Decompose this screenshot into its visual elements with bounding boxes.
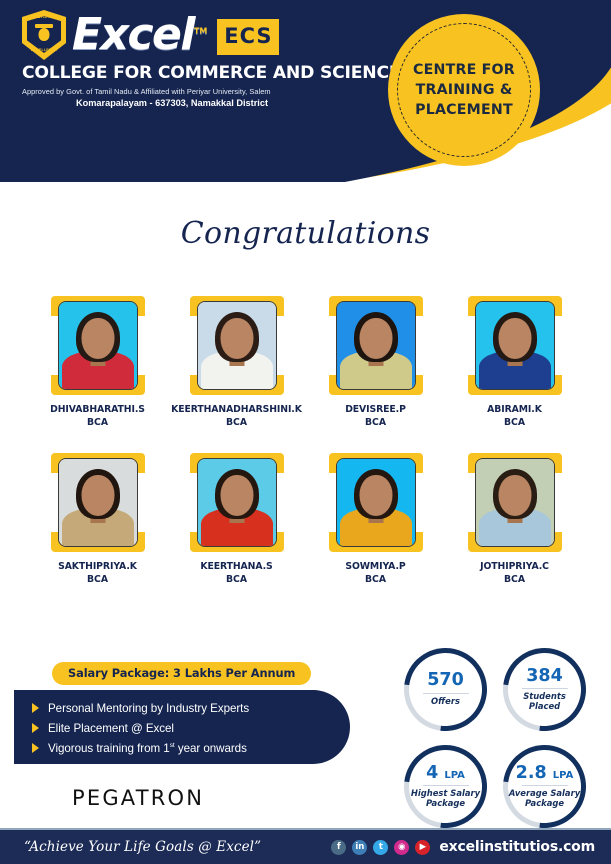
- youtube-icon[interactable]: ▶: [415, 840, 430, 855]
- highlight-item: Personal Mentoring by Industry Experts: [32, 698, 350, 718]
- page-title: Congratulations: [0, 216, 611, 251]
- highlight-text: Elite Placement @ Excel: [48, 722, 174, 735]
- student-card: SOWMIYA.PBCA: [306, 453, 445, 587]
- social-links: fint◉▶: [331, 840, 430, 855]
- placement-stats: 570Offers384StudentsPlaced4 LPAHighest S…: [404, 648, 600, 828]
- photo-frame: [329, 453, 423, 552]
- photo-frame: [468, 296, 562, 395]
- student-card: DEVISREE.PBCA: [306, 296, 445, 430]
- badge-line-1: CENTRE FOR: [413, 60, 515, 80]
- brand-name: Excel: [72, 9, 194, 60]
- student-degree: BCA: [87, 416, 108, 429]
- photo-frame: [190, 453, 284, 552]
- student-name: DEVISREE.P: [345, 403, 406, 416]
- student-photo: [197, 458, 277, 547]
- student-card: KEERTHANA.SBCA: [167, 453, 306, 587]
- student-degree: BCA: [226, 573, 247, 586]
- stat-label: Highest SalaryPackage: [411, 789, 480, 808]
- facebook-icon[interactable]: f: [331, 840, 346, 855]
- address-line: Komarapalayam - 637303, Namakkal Distric…: [22, 98, 322, 108]
- college-crest-icon: BRET EXCELLENCE: [22, 10, 66, 60]
- photo-frame: [51, 296, 145, 395]
- student-photo: [58, 301, 138, 390]
- highlight-text: Personal Mentoring by Industry Experts: [48, 702, 249, 715]
- student-degree: BCA: [365, 416, 386, 429]
- student-degree: BCA: [365, 573, 386, 586]
- stat-value: 2.8 LPA: [516, 765, 574, 783]
- student-row: SAKTHIPRIYA.KBCAKEERTHANA.SBCASOWMIYA.PB…: [28, 453, 584, 587]
- student-card: SAKTHIPRIYA.KBCA: [28, 453, 167, 587]
- ecs-logo-box: ECS: [217, 19, 279, 55]
- bullet-triangle-icon: [32, 723, 39, 733]
- badge-line-2: TRAINING &: [413, 80, 515, 100]
- photo-frame: [468, 453, 562, 552]
- student-degree: BCA: [504, 416, 525, 429]
- student-name: KEERTHANADHARSHINI.K: [171, 403, 302, 416]
- student-photo: [336, 458, 416, 547]
- photo-frame: [51, 453, 145, 552]
- stat-divider: [522, 785, 568, 786]
- salary-package-badge: Salary Package: 3 Lakhs Per Annum: [52, 662, 311, 685]
- stat-ring: [486, 631, 603, 748]
- student-card: DHIVABHARATHI.SBCA: [28, 296, 167, 430]
- stat-value: 570: [427, 672, 464, 690]
- student-name: KEERTHANA.S: [200, 560, 272, 573]
- recruiter-logo: PEGATRON: [72, 786, 204, 810]
- badge-text: CENTRE FOR TRAINING & PLACEMENT: [413, 60, 515, 120]
- stat-circle: 384StudentsPlaced: [503, 648, 586, 731]
- bullet-triangle-icon: [32, 703, 39, 713]
- student-name: JOTHIPRIYA.C: [480, 560, 549, 573]
- college-logo-block: BRET EXCELLENCE ExcelTM ECS COLLEGE FOR …: [22, 10, 352, 108]
- stat-label: Offers: [431, 697, 460, 707]
- student-degree: BCA: [504, 573, 525, 586]
- student-grid: DHIVABHARATHI.SBCAKEERTHANADHARSHINI.KBC…: [28, 296, 584, 587]
- highlights-panel: Personal Mentoring by Industry ExpertsEl…: [14, 690, 350, 764]
- stat-label: StudentsPlaced: [523, 692, 566, 711]
- highlight-item: Elite Placement @ Excel: [32, 718, 350, 738]
- training-placement-badge: CENTRE FOR TRAINING & PLACEMENT: [388, 14, 540, 166]
- poster-footer: “Achieve Your Life Goals @ Excel” fint◉▶…: [0, 830, 611, 864]
- student-name: SOWMIYA.P: [345, 560, 405, 573]
- student-name: DHIVABHARATHI.S: [50, 403, 145, 416]
- stat-value: 4 LPA: [426, 765, 465, 783]
- student-card: KEERTHANADHARSHINI.KBCA: [167, 296, 306, 430]
- stat-value: 384: [526, 668, 563, 686]
- photo-frame: [190, 296, 284, 395]
- linkedin-icon[interactable]: in: [352, 840, 367, 855]
- student-photo: [475, 458, 555, 547]
- ecs-abbrev: ECS: [224, 26, 272, 47]
- student-photo: [336, 301, 416, 390]
- instagram-icon[interactable]: ◉: [394, 840, 409, 855]
- student-card: ABIRAMI.KBCA: [445, 296, 584, 430]
- stat-divider: [522, 688, 568, 689]
- brand-wordmark: ExcelTM: [72, 13, 207, 56]
- logo-top-row: BRET EXCELLENCE ExcelTM ECS: [22, 10, 352, 60]
- tagline: “Achieve Your Life Goals @ Excel”: [24, 839, 261, 855]
- student-card: JOTHIPRIYA.CBCA: [445, 453, 584, 587]
- stat-divider: [423, 693, 469, 694]
- college-name: COLLEGE FOR COMMERCE AND SCIENCE: [22, 63, 352, 83]
- website-url[interactable]: excelinstitutios.com: [439, 839, 595, 855]
- bullet-triangle-icon: [32, 743, 39, 753]
- student-degree: BCA: [87, 573, 108, 586]
- stat-circle: 2.8 LPAAverage SalaryPackage: [503, 745, 586, 828]
- stat-label: Average SalaryPackage: [509, 789, 580, 808]
- highlight-text: Vigorous training from 1st year onwards: [48, 742, 247, 755]
- student-photo: [197, 301, 277, 390]
- trademark-mark: TM: [194, 27, 207, 36]
- accreditation-line: Approved by Govt. of Tamil Nadu & Affili…: [22, 87, 352, 96]
- stat-divider: [423, 785, 469, 786]
- highlight-item: Vigorous training from 1st year onwards: [32, 738, 350, 758]
- student-degree: BCA: [226, 416, 247, 429]
- student-name: SAKTHIPRIYA.K: [58, 560, 137, 573]
- crest-bottom-text: EXCELLENCE: [22, 48, 66, 52]
- stat-circle: 570Offers: [404, 648, 487, 731]
- crest-top-text: BRET: [22, 14, 66, 19]
- student-photo: [475, 301, 555, 390]
- student-name: ABIRAMI.K: [487, 403, 542, 416]
- stat-circle: 4 LPAHighest SalaryPackage: [404, 745, 487, 828]
- twitter-icon[interactable]: t: [373, 840, 388, 855]
- photo-frame: [329, 296, 423, 395]
- student-photo: [58, 458, 138, 547]
- student-row: DHIVABHARATHI.SBCAKEERTHANADHARSHINI.KBC…: [28, 296, 584, 430]
- badge-line-3: PLACEMENT: [413, 100, 515, 120]
